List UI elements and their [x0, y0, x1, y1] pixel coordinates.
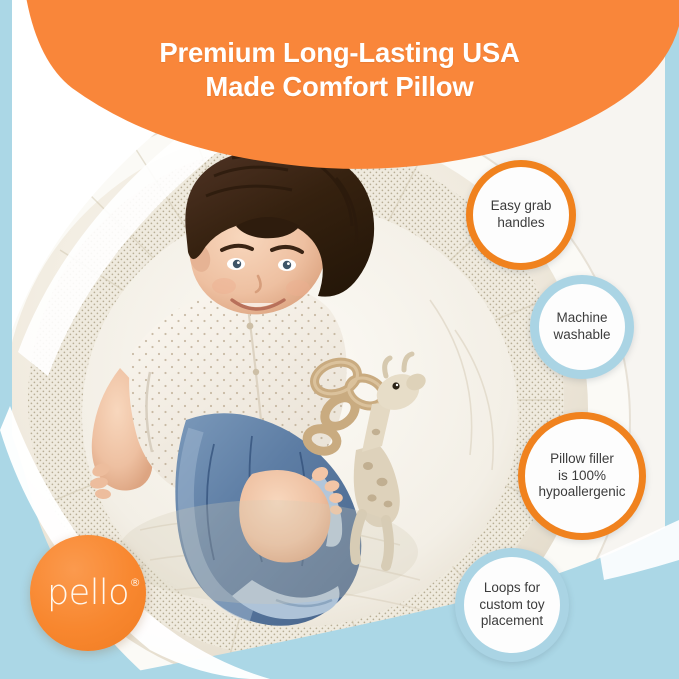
badge-line-2: is 100% — [558, 468, 606, 483]
badge-line-2: washable — [553, 327, 610, 342]
product-infographic: Premium Long-Lasting USA Made Comfort Pi… — [0, 0, 679, 679]
badge-line-3: placement — [481, 613, 543, 628]
feature-badge-text: Loops for custom toy placement — [473, 580, 550, 631]
brand-wordmark-text: pello — [47, 573, 129, 613]
page-title: Premium Long-Lasting USA Made Comfort Pi… — [0, 36, 679, 103]
brand-wordmark: pello ® — [47, 576, 129, 611]
feature-badge-text: Pillow filler is 100% hypoallergenic — [532, 451, 631, 502]
feature-badge-text: Machine washable — [547, 310, 616, 344]
feature-badge-machine-washable[interactable]: Machine washable — [530, 275, 634, 379]
badge-line-1: Pillow filler — [550, 451, 614, 466]
registered-trademark-icon: ® — [130, 577, 141, 588]
feature-badge-hypoallergenic-filler[interactable]: Pillow filler is 100% hypoallergenic — [518, 412, 646, 540]
feature-badge-toy-loops[interactable]: Loops for custom toy placement — [455, 548, 569, 662]
badge-line-2: handles — [497, 215, 544, 230]
feature-badge-easy-grab-handles[interactable]: Easy grab handles — [466, 160, 576, 270]
badge-line-1: Machine — [556, 310, 607, 325]
feature-badge-text: Easy grab handles — [485, 198, 558, 232]
badge-line-3: hypoallergenic — [538, 484, 625, 499]
badge-line-1: Easy grab — [491, 198, 552, 213]
badge-line-2: custom toy — [479, 597, 544, 612]
brand-logo[interactable]: pello ® — [30, 535, 146, 651]
badge-line-1: Loops for — [484, 580, 540, 595]
headline-line-2: Made Comfort Pillow — [0, 70, 679, 104]
headline-line-1: Premium Long-Lasting USA — [159, 37, 519, 68]
